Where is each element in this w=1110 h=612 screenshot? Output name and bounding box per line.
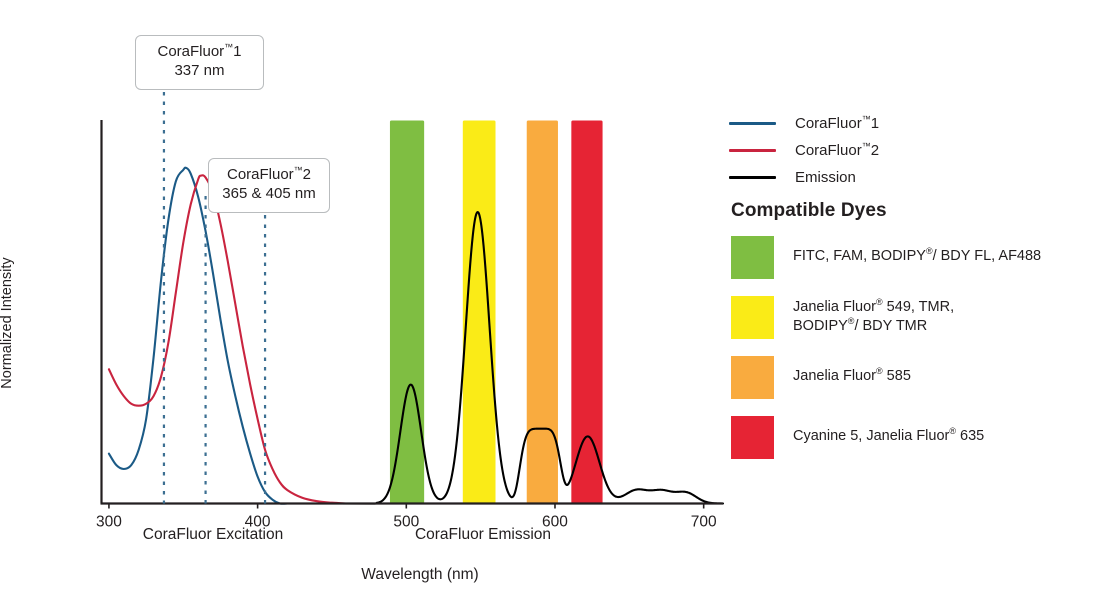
spectra-figure: 300400500600700 CoraFluor™1 337 nm CoraF…: [0, 0, 1110, 612]
legend-item-label: CoraFluor™1: [795, 115, 879, 132]
dye-item-line2: BODIPY®/ BDY TMR: [793, 317, 954, 336]
dye-color-swatch: [731, 356, 774, 399]
axis-segment-excitation: CoraFluor Excitation: [100, 526, 326, 544]
legend-item-emission: Emission: [729, 164, 1099, 191]
legend-item-corafluor1: CoraFluor™1: [729, 110, 1099, 137]
x-axis-title: Wavelength (nm): [270, 566, 570, 584]
dye-item-label: Janelia Fluor® 585: [793, 356, 911, 386]
dye-item-label: Cyanine 5, Janelia Fluor® 635: [793, 416, 984, 446]
axis-segment-emission: CoraFluor Emission: [370, 526, 596, 544]
series-legend: CoraFluor™1CoraFluor™2Emission: [729, 110, 1099, 191]
callout-corafluor1-title: CoraFluor™1: [148, 43, 251, 62]
legend-item-label: CoraFluor™2: [795, 142, 879, 159]
compatible-dyes-title: Compatible Dyes: [731, 200, 887, 222]
dye-color-swatch: [731, 416, 774, 459]
legend-line-swatch: [729, 149, 776, 152]
compatible-dyes-list: FITC, FAM, BODIPY®/ BDY FL, AF488Janelia…: [731, 236, 1106, 476]
dye-color-swatch: [731, 296, 774, 339]
x-tick-label-700: 700: [691, 514, 717, 531]
dye-item: Janelia Fluor® 585: [731, 356, 1106, 399]
dye-item-label: FITC, FAM, BODIPY®/ BDY FL, AF488: [793, 236, 1041, 266]
legend-line-swatch: [729, 176, 776, 179]
legend-line-swatch: [729, 122, 776, 125]
y-axis-label: Normalized Intensity: [0, 238, 15, 408]
dye-item-line1: FITC, FAM, BODIPY®/ BDY FL, AF488: [793, 248, 1041, 264]
legend-item-corafluor2: CoraFluor™2: [729, 137, 1099, 164]
dye-color-swatch: [731, 236, 774, 279]
curve-corafluor2: [109, 175, 347, 503]
orange-band: [527, 121, 558, 504]
callout-corafluor2: CoraFluor™2 365 & 405 nm: [208, 158, 330, 213]
dye-item: Janelia Fluor® 549, TMR,BODIPY®/ BDY TMR: [731, 296, 1106, 339]
green-band: [390, 121, 424, 504]
legend-item-label: Emission: [795, 169, 856, 186]
callout-corafluor2-value: 365 & 405 nm: [221, 185, 317, 204]
red-band: [571, 121, 602, 504]
callout-corafluor1: CoraFluor™1 337 nm: [135, 35, 264, 90]
dye-item-line1: Janelia Fluor® 585: [793, 368, 911, 384]
dye-item: Cyanine 5, Janelia Fluor® 635: [731, 416, 1106, 459]
dye-item-line1: Cyanine 5, Janelia Fluor® 635: [793, 428, 984, 444]
dye-item-line1: Janelia Fluor® 549, TMR,: [793, 299, 954, 315]
dye-item-label: Janelia Fluor® 549, TMR,BODIPY®/ BDY TMR: [793, 296, 954, 336]
dye-item: FITC, FAM, BODIPY®/ BDY FL, AF488: [731, 236, 1106, 279]
callout-corafluor2-title: CoraFluor™2: [221, 166, 317, 185]
curve-corafluor1: [109, 168, 287, 504]
callout-corafluor1-value: 337 nm: [148, 62, 251, 81]
